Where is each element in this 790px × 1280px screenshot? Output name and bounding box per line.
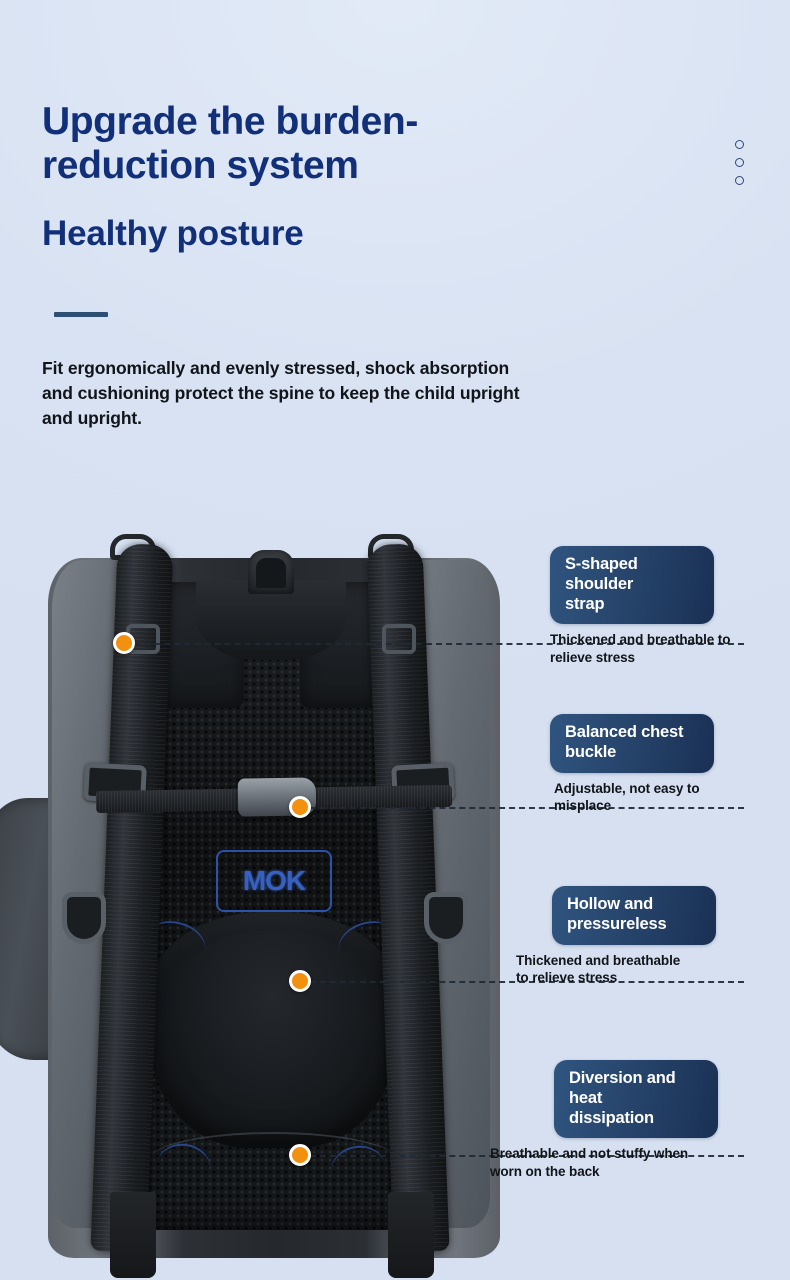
title-divider <box>54 312 108 317</box>
callout-description: Adjustable, not easy to misplace <box>554 780 714 816</box>
brand-logo-text: MOK <box>243 865 305 897</box>
top-carry-handle <box>248 550 294 594</box>
strap-tail-right <box>388 1192 434 1278</box>
page-subtitle: Healthy posture <box>42 214 304 254</box>
hotspot-marker-hollow-pad[interactable] <box>289 970 311 992</box>
callout-s-shaped-shoulder-strap: S-shaped shoulder strap Thickened and br… <box>550 546 730 667</box>
callout-balanced-chest-buckle: Balanced chest buckle Adjustable, not ea… <box>550 714 714 815</box>
callout-title-badge: Hollow and pressureless <box>552 886 716 945</box>
backpack-product-image: MOK <box>0 520 540 1280</box>
hotspot-marker-heat-dissipation[interactable] <box>289 1144 311 1166</box>
callout-title-badge: Diversion and heat dissipation <box>554 1060 718 1138</box>
page-title: Upgrade the burden- reduction system <box>42 100 662 188</box>
intro-paragraph: Fit ergonomically and evenly stressed, s… <box>42 356 682 431</box>
callout-description: Thickened and breathable to relieve stre… <box>516 952 732 988</box>
product-infographic-page: Upgrade the burden- reduction system Hea… <box>0 0 790 1280</box>
decorative-dots-group <box>735 140 744 185</box>
callout-description: Breathable and not stuffy when worn on t… <box>490 1145 734 1181</box>
strap-anchor-right <box>382 624 416 654</box>
circle-outline-icon <box>735 140 744 149</box>
callout-description: Thickened and breathable to relieve stre… <box>550 631 730 667</box>
strap-tail-left <box>110 1192 156 1278</box>
circle-outline-icon <box>735 158 744 167</box>
hotspot-marker-shoulder-strap[interactable] <box>113 632 135 654</box>
callout-title-badge: S-shaped shoulder strap <box>550 546 714 624</box>
callout-diversion-and-heat-dissipation: Diversion and heat dissipation Breathabl… <box>554 1060 734 1181</box>
brand-logo: MOK <box>216 850 332 912</box>
strap-adjuster-right <box>424 892 468 944</box>
hotspot-marker-chest-buckle[interactable] <box>289 796 311 818</box>
strap-adjuster-left <box>62 892 106 944</box>
circle-outline-icon <box>735 176 744 185</box>
callout-hollow-and-pressureless: Hollow and pressureless Thickened and br… <box>552 886 732 987</box>
callout-title-badge: Balanced chest buckle <box>550 714 714 773</box>
